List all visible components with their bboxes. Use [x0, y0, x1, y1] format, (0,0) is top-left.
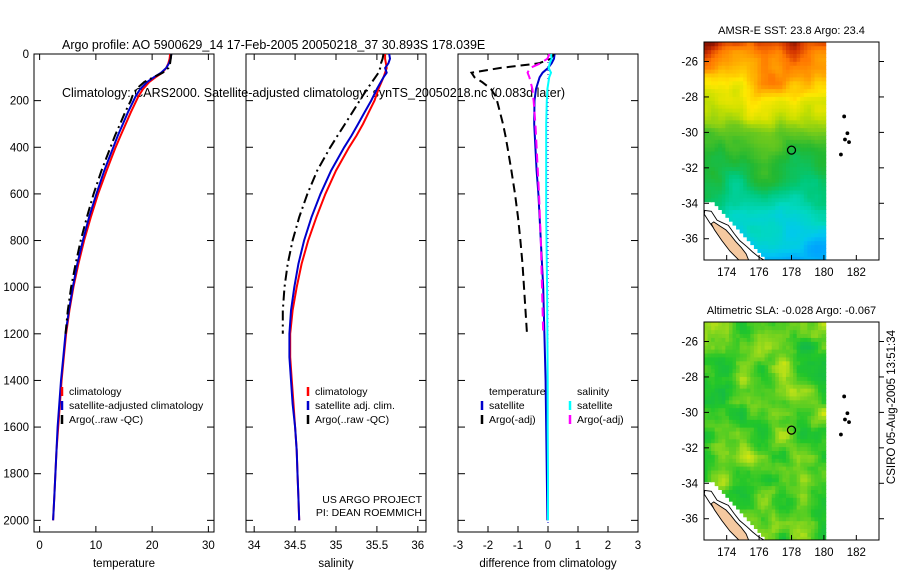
map-y-tick-label: -30 — [681, 127, 698, 139]
map-title: AMSR-E SST: 23.8 Argo: 23.4 — [718, 25, 865, 37]
map-y-tick-label: -34 — [681, 198, 698, 210]
island-marker — [846, 131, 850, 135]
y-tick-label: 0 — [23, 49, 29, 61]
y-tick-label: 1800 — [3, 469, 29, 481]
legend-label: satellite — [489, 400, 525, 412]
credit-line: PI: DEAN ROEMMICH — [316, 507, 422, 519]
map-y-tick-label: -28 — [681, 372, 698, 384]
x-tick-label: 20 — [146, 540, 159, 552]
map-sla: Altimetric SLA: -0.028 Argo: -0.06717417… — [660, 300, 900, 574]
y-tick-label: 400 — [10, 142, 29, 154]
x-tick-label: -3 — [453, 540, 463, 552]
legend-label: satellite-adjusted climatology — [69, 400, 204, 412]
y-tick-label: 1200 — [3, 329, 29, 341]
island-marker — [847, 140, 851, 144]
series-line — [546, 54, 551, 520]
y-tick-label: 200 — [10, 96, 29, 108]
map-y-tick-label: -30 — [681, 407, 698, 419]
series-line — [472, 54, 555, 334]
map-y-tick-label: -32 — [681, 443, 698, 455]
map-x-tick-label: 180 — [814, 267, 833, 279]
island-marker — [847, 420, 851, 424]
x-axis-label: temperature — [93, 558, 155, 570]
series-line — [534, 54, 554, 520]
plot-frame — [246, 54, 426, 532]
panel-temperature: 0102030020040060080010001200140016001800… — [0, 46, 228, 584]
legend-label: satellite — [577, 400, 613, 412]
x-tick-label: 1 — [575, 540, 581, 552]
map-y-tick-label: -28 — [681, 92, 698, 104]
island-marker — [839, 153, 843, 157]
x-tick-label: 10 — [89, 540, 102, 552]
x-tick-label: -1 — [513, 540, 523, 552]
map-y-tick-label: -34 — [681, 478, 698, 490]
series-line — [283, 54, 384, 334]
y-tick-label: 1400 — [3, 375, 29, 387]
x-tick-label: 0 — [36, 540, 42, 552]
legend-label: Argo(..raw -QC) — [315, 414, 389, 426]
panel-difference: -3-2-10123difference from climatologytem… — [424, 46, 652, 584]
map-y-tick-label: -36 — [681, 514, 698, 526]
x-tick-label: 34 — [248, 540, 261, 552]
x-tick-label: 3 — [635, 540, 641, 552]
map-x-tick-label: 178 — [782, 267, 801, 279]
x-tick-label: 2 — [605, 540, 611, 552]
map-sst: AMSR-E SST: 23.8 Argo: 23.41741761781801… — [660, 20, 900, 294]
map-x-tick-label: 180 — [814, 547, 833, 559]
x-tick-label: 35.5 — [366, 540, 388, 552]
island-marker — [843, 138, 847, 142]
legend-label: Argo(-adj) — [489, 414, 536, 426]
map-x-tick-label: 174 — [717, 267, 737, 279]
legend-label: Argo(-adj) — [577, 414, 624, 426]
map-x-tick-label: 178 — [782, 547, 801, 559]
legend-label: climatology — [69, 386, 122, 398]
panel-salinity: 3434.53535.536salinityclimatologysatelli… — [212, 46, 440, 584]
legend-group-heading: salinity — [577, 386, 610, 398]
legend-label: climatology — [315, 386, 368, 398]
x-tick-label: 35 — [330, 540, 343, 552]
x-tick-label: 34.5 — [284, 540, 306, 552]
legend-label: Argo(..raw -QC) — [69, 414, 143, 426]
series-line — [290, 54, 387, 520]
series-line — [289, 54, 390, 520]
x-tick-label: 0 — [545, 540, 551, 552]
series-line — [66, 54, 172, 334]
csiro-timestamp: CSIRO 05-Aug-2005 13:51:34 — [886, 330, 898, 484]
island-marker — [839, 433, 843, 437]
map-title: Altimetric SLA: -0.028 Argo: -0.067 — [707, 305, 876, 317]
map-y-tick-label: -26 — [681, 336, 698, 348]
island-marker — [843, 418, 847, 422]
y-tick-label: 1000 — [3, 282, 29, 294]
x-tick-label: -2 — [483, 540, 493, 552]
map-x-tick-label: 176 — [749, 547, 768, 559]
island-marker — [842, 395, 846, 399]
map-y-tick-label: -36 — [681, 234, 698, 246]
island-marker — [846, 411, 850, 415]
y-tick-label: 2000 — [3, 515, 29, 527]
map-y-tick-label: -26 — [681, 56, 698, 68]
y-tick-label: 600 — [10, 189, 29, 201]
x-tick-label: 36 — [411, 540, 424, 552]
island-marker — [842, 115, 846, 119]
map-x-tick-label: 176 — [749, 267, 768, 279]
legend-group-heading: temperature — [489, 386, 546, 398]
map-y-tick-label: -32 — [681, 163, 698, 175]
map-x-tick-label: 174 — [717, 547, 737, 559]
map-x-tick-label: 182 — [847, 547, 866, 559]
credit-line: US ARGO PROJECT — [322, 494, 422, 506]
y-tick-label: 1600 — [3, 422, 29, 434]
map-raster — [704, 322, 826, 541]
map-raster — [704, 42, 826, 261]
y-tick-label: 800 — [10, 236, 29, 248]
x-axis-label: difference from climatology — [479, 558, 616, 570]
legend-label: satellite adj. clim. — [315, 400, 395, 412]
x-axis-label: salinity — [318, 558, 353, 570]
map-x-tick-label: 182 — [847, 267, 866, 279]
